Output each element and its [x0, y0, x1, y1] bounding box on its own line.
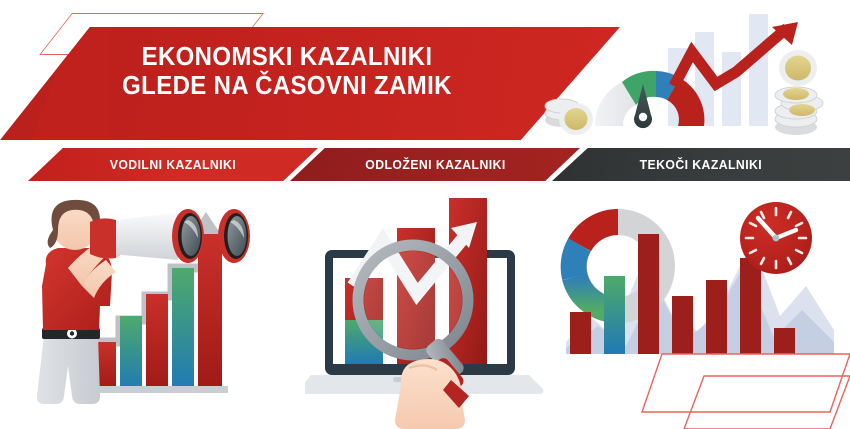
infographic-root: EKONOMSKI KAZALNIKI GLEDE NA ČASOVNI ZAM… [0, 0, 850, 429]
header: EKONOMSKI KAZALNIKI GLEDE NA ČASOVNI ZAM… [0, 0, 850, 150]
tab-tekoci-kazalniki[interactable]: TEKOČI KAZALNIKI [552, 148, 850, 181]
analog-clock [740, 202, 812, 274]
page-title-line-1: EKONOMSKI KAZALNIKI [142, 43, 433, 72]
panel-leading-indicators: Ženska z daljnogledom in naraščajoči sto… [20, 190, 305, 429]
coin-stack-right [775, 50, 823, 135]
tab-label: ODLOŽENI KAZALNIKI [365, 157, 505, 172]
header-illustration-svg [540, 0, 850, 150]
panel-lagging-indicators: Prenosnik z grafom, roka z lupo [305, 190, 555, 429]
tab-odlozeni-kazalniki[interactable]: ODLOŽENI KAZALNIKI [290, 148, 580, 181]
leading-indicators-illustration [20, 190, 305, 429]
page-title-line-2: GLEDE NA ČASOVNI ZAMIK [122, 72, 452, 101]
indicator-tabs: VODILNI KAZALNIKI ODLOŽENI KAZALNIKI TEK… [0, 148, 850, 186]
coin-stack-left [545, 99, 593, 135]
lagging-indicators-illustration [305, 190, 555, 429]
page-title: EKONOMSKI KAZALNIKI GLEDE NA ČASOVNI ZAM… [85, 28, 489, 116]
binoculars-icon [90, 209, 250, 263]
header-illustration [540, 0, 850, 150]
tab-label: TEKOČI KAZALNIKI [640, 157, 763, 172]
tab-vodilni-kazalniki[interactable]: VODILNI KAZALNIKI [28, 148, 318, 181]
panel-coincident-indicators: Krožni graf, stolpci, ura in ploskve [548, 190, 850, 429]
speedometer-gauge [595, 71, 704, 128]
tab-label: VODILNI KAZALNIKI [110, 157, 236, 172]
red-parallelograms [642, 354, 850, 429]
coincident-indicators-illustration [548, 190, 850, 429]
